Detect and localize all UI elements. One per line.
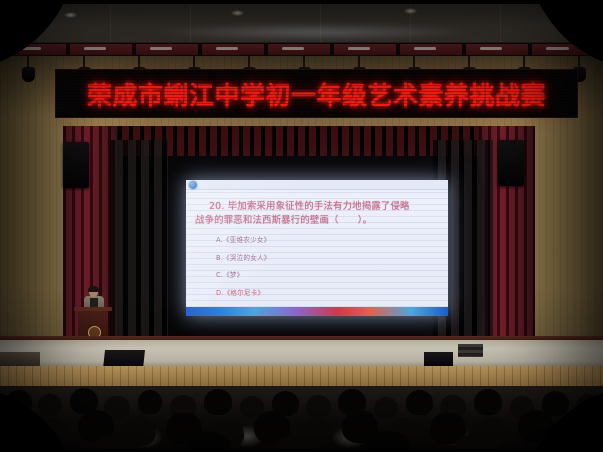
ceiling-glow [150,24,480,40]
audience-area [0,386,603,452]
auditorium-photo: 荣成市蜊江中学初一年级艺术素养挑战赛 20. 毕加索采用象征性的手法有力地揭露了… [0,0,603,452]
ceiling-downlight-icon [404,8,417,14]
option-d: D.《格尔尼卡》 [216,289,271,297]
option-c: C.《梦》 [216,271,271,279]
stage-floor [0,340,603,368]
question-line-2: 战争的罪恶和法西斯暴行的壁画（ ）。 [195,215,372,226]
ceiling-downlight-icon [231,10,244,16]
powerpoint-dot-icon [189,181,197,189]
floor-monitor-speaker-right [424,352,453,366]
stage-apron [0,366,603,388]
slide-footer-gradient [186,307,448,316]
hanging-speaker-right [498,140,524,186]
option-a: A.《亚维农少女》 [216,236,271,244]
slide-header-bar [186,180,448,190]
event-led-banner: 荣成市蜊江中学初一年级艺术素养挑战赛 [55,69,578,118]
projection-screen: 20. 毕加索采用象征性的手法有力地揭露了侵略 战争的罪恶和法西斯暴行的壁画（ … [186,180,448,316]
ceiling-downlight-icon [64,12,77,18]
equipment-crate [458,344,483,357]
ceiling-downlight-icon [567,6,580,12]
question-line-1: 20. 毕加索采用象征性的手法有力地揭露了侵略 [195,200,443,214]
hanging-speaker-left [63,142,89,188]
slide-options: A.《亚维农少女》 B.《哭泣的女人》 C.《梦》 D.《格尔尼卡》 [216,236,271,306]
option-b: B.《哭泣的女人》 [216,254,271,262]
banner-title: 荣成市蜊江中学初一年级艺术素养挑战赛 [87,76,546,112]
backdrop-left [110,140,168,344]
slide-question: 20. 毕加索采用象征性的手法有力地揭露了侵略 战争的罪恶和法西斯暴行的壁画（ … [195,200,443,228]
